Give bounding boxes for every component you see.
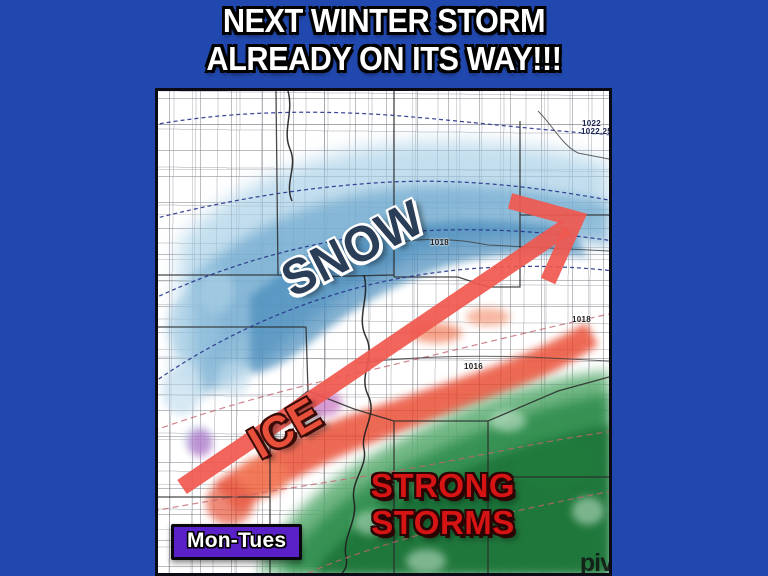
strong-storms-line-2: STORMS — [343, 504, 543, 541]
strong-storms-line-1: STRONG — [343, 467, 543, 504]
pressure-label-1016: 1016 — [464, 362, 483, 371]
forecast-map[interactable]: 1022 1022.25 1018 1018 1016 SNOW ICE STR… — [155, 88, 612, 576]
pressure-label-1018-b: 1018 — [572, 315, 591, 324]
pressure-label-1022-25: 1022.25 — [581, 127, 609, 136]
strong-storms-annotation: STRONG STORMS — [343, 467, 543, 541]
weather-graphic: NEXT WINTER STORM ALREADY ON ITS WAY!!! — [0, 0, 768, 576]
headline-line-1: NEXT WINTER STORM — [27, 2, 741, 40]
timing-badge[interactable]: Mon-Tues — [171, 524, 302, 560]
timing-badge-label: Mon-Tues — [187, 529, 286, 552]
map-canvas: 1022 1022.25 1018 1018 1016 SNOW ICE STR… — [158, 91, 609, 573]
headline-line-2: ALREADY ON ITS WAY!!! — [27, 40, 741, 78]
headline: NEXT WINTER STORM ALREADY ON ITS WAY!!! — [0, 2, 768, 78]
source-watermark: piv — [580, 549, 609, 573]
